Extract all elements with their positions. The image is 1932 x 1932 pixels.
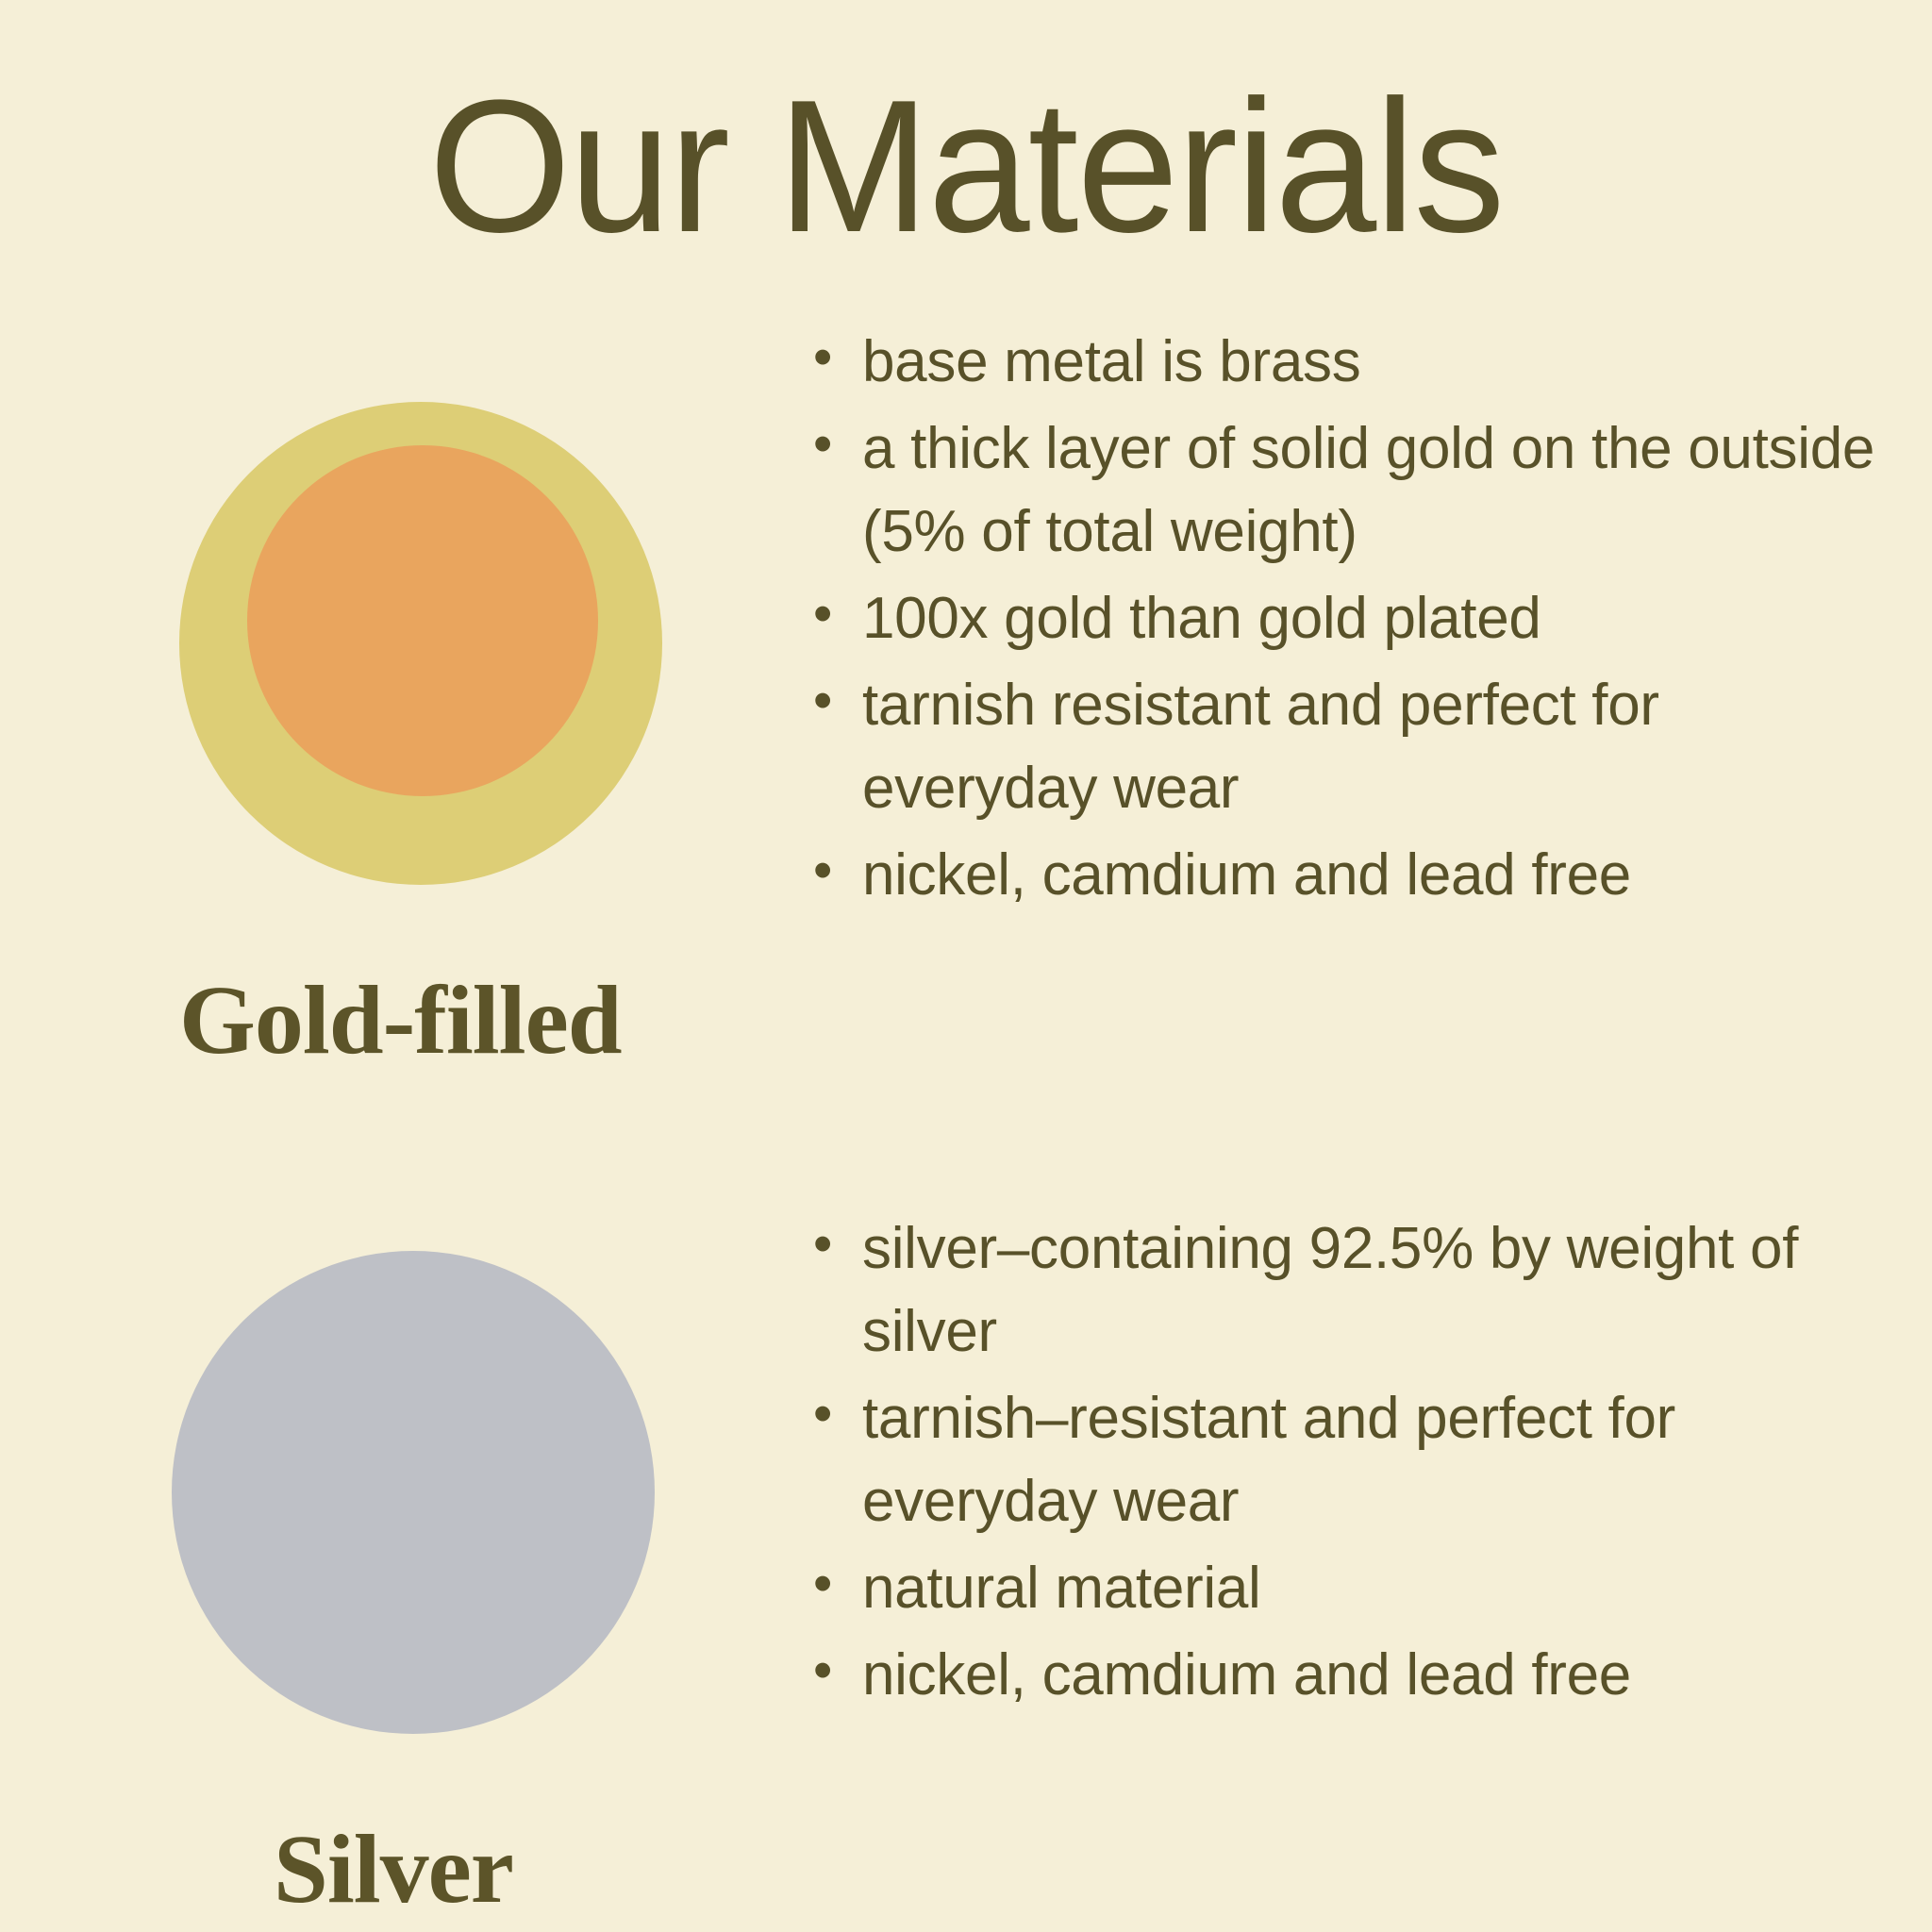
list-item: nickel, camdium and lead free [808, 834, 1892, 917]
list-item: a thick layer of solid gold on the outsi… [808, 408, 1892, 574]
list-item: 100x gold than gold plated [808, 577, 1892, 660]
material-name-silver: Silver [274, 1821, 513, 1919]
material-name-gold-filled: Gold-filled [179, 972, 622, 1070]
list-item: tarnish resistant and perfect for everyd… [808, 664, 1892, 830]
list-item: nickel, camdium and lead free [808, 1634, 1892, 1717]
list-item: silver–containing 92.5% by weight of sil… [808, 1207, 1892, 1374]
gold-swatch [179, 402, 662, 885]
page-title: Our Materials [29, 68, 1904, 266]
list-item: base metal is brass [808, 321, 1892, 404]
list-item: tarnish–resistant and perfect for everyd… [808, 1377, 1892, 1543]
infographic-page: Our Materials Gold-filled base metal is … [0, 0, 1932, 1932]
gold-inner-circle-icon [247, 445, 598, 796]
silver-circle-icon [172, 1251, 655, 1734]
list-item: natural material [808, 1547, 1892, 1630]
gold-filled-bullet-list: base metal is brass a thick layer of sol… [808, 321, 1892, 921]
silver-bullet-list: silver–containing 92.5% by weight of sil… [808, 1207, 1892, 1721]
silver-swatch [172, 1251, 655, 1734]
